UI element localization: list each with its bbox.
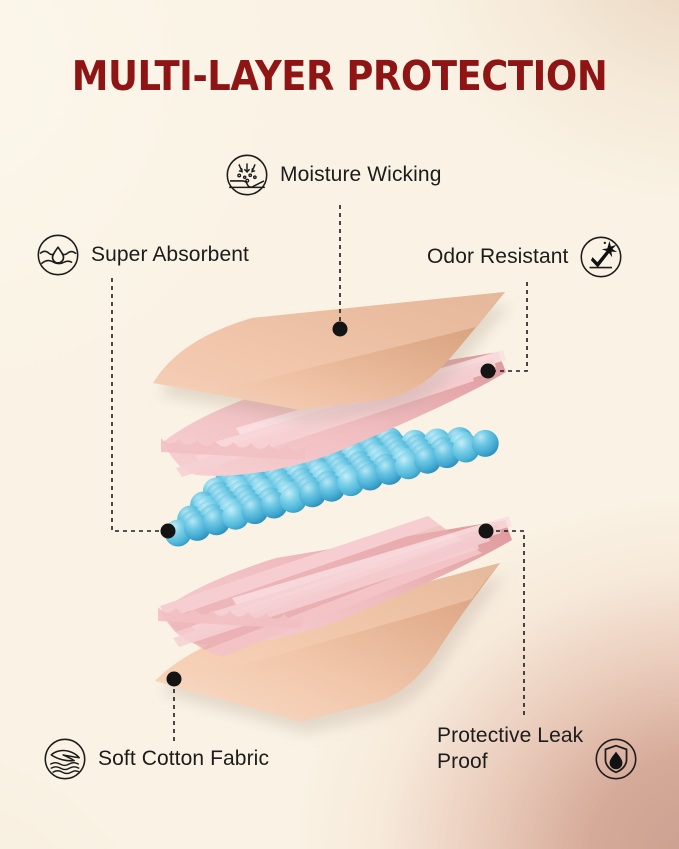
odor-resistant-icon — [579, 235, 623, 279]
moisture-wicking-icon — [225, 153, 269, 197]
feature-odor-resistant[interactable]: Odor Resistant — [427, 235, 623, 279]
feature-label-super-absorbent: Super Absorbent — [91, 242, 249, 268]
feature-protective-leak-proof[interactable]: Protective Leak Proof — [437, 723, 638, 781]
feature-moisture-wicking[interactable]: Moisture Wicking — [225, 153, 441, 197]
layer-stack-diagram — [0, 0, 679, 849]
feature-label-soft-cotton-fabric: Soft Cotton Fabric — [98, 746, 269, 772]
feature-soft-cotton-fabric[interactable]: Soft Cotton Fabric — [43, 737, 269, 781]
leak-proof-icon — [594, 737, 638, 781]
feature-super-absorbent[interactable]: Super Absorbent — [36, 233, 249, 277]
feature-label-odor-resistant: Odor Resistant — [427, 244, 568, 270]
soft-cotton-fabric-icon — [43, 737, 87, 781]
feature-label-protective-leak-proof: Protective Leak Proof — [437, 723, 583, 775]
super-absorbent-icon — [36, 233, 80, 277]
feature-label-moisture-wicking: Moisture Wicking — [280, 162, 441, 188]
infographic-root: MULTI-LAYER PROTECTION — [0, 0, 679, 849]
